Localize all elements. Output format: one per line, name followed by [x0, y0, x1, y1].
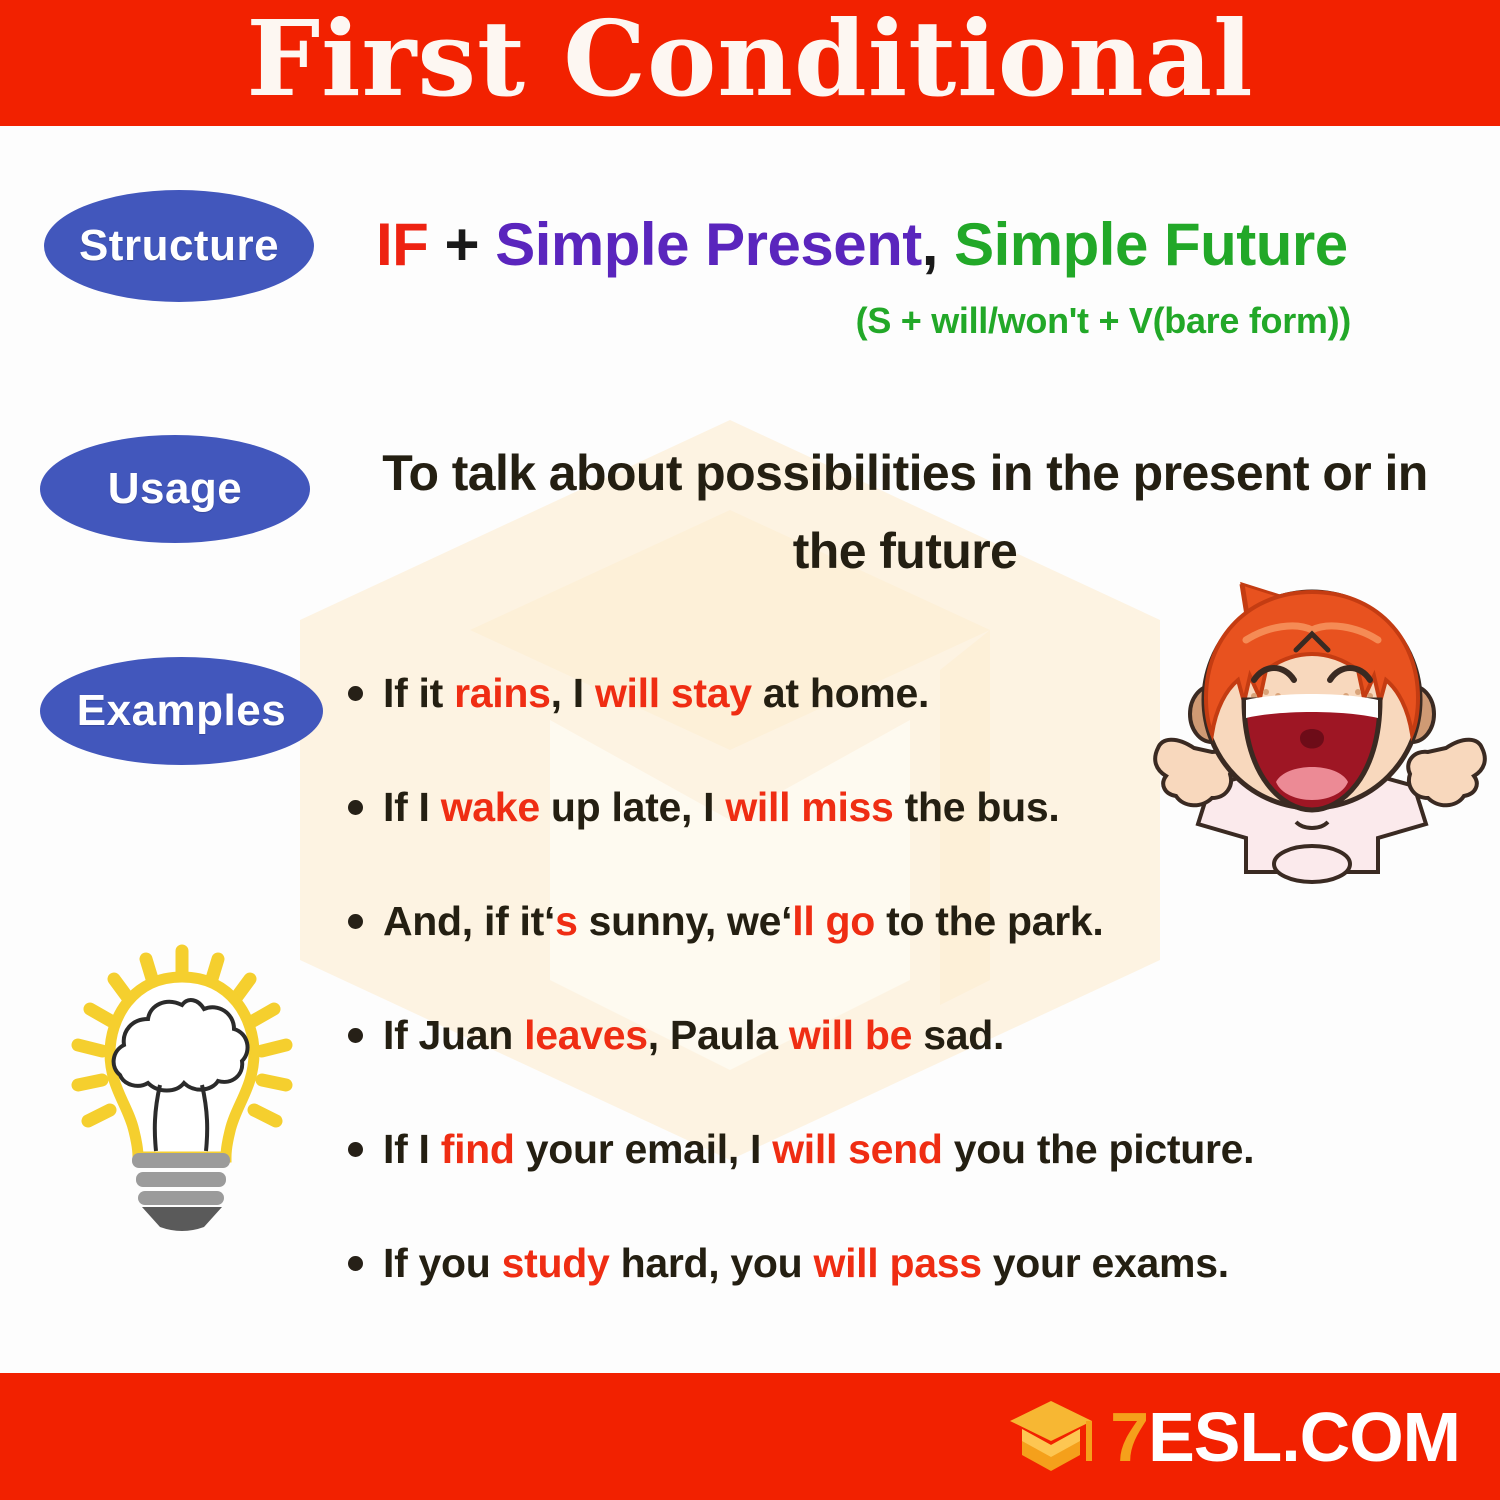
example-text: hard, you: [609, 1240, 813, 1286]
formula-comma: ,: [922, 211, 954, 278]
example-highlight: s: [555, 898, 578, 944]
example-text: If it: [383, 670, 454, 716]
example-text: to the park.: [875, 898, 1103, 944]
example-text: at home.: [752, 670, 929, 716]
example-highlight: wake: [441, 784, 540, 830]
example-text: your email, I: [515, 1126, 773, 1172]
example-highlight: will be: [789, 1012, 912, 1058]
example-highlight: ll go: [792, 898, 875, 944]
formula-if: IF: [376, 211, 428, 278]
example-text: your exams.: [982, 1240, 1229, 1286]
example-text: sunny, we‘: [578, 898, 793, 944]
example-highlight: study: [502, 1240, 610, 1286]
footer-logo[interactable]: 7ESL.COM: [1008, 1373, 1460, 1500]
pill-structure: Structure: [44, 190, 314, 302]
example-text: you the picture.: [943, 1126, 1255, 1172]
structure-subline: (S + will/won't + V(bare form)): [376, 300, 1351, 342]
example-text: If Juan: [383, 1012, 524, 1058]
example-text: If you: [383, 1240, 502, 1286]
formula-plus: +: [428, 211, 495, 278]
usage-text: To talk about possibilities in the prese…: [370, 435, 1440, 590]
example-highlight: will send: [772, 1126, 942, 1172]
logo-text: ESL.COM: [1148, 1402, 1460, 1472]
structure-formula: IF + Simple Present, Simple Future: [376, 213, 1436, 276]
example-text: And, if it‘: [383, 898, 555, 944]
example-item: If Juan leaves, Paula will be sad.: [345, 1014, 1415, 1128]
example-highlight: rains: [454, 670, 551, 716]
pill-usage-label: Usage: [108, 464, 243, 514]
pill-examples: Examples: [40, 657, 323, 765]
logo-digit: 7: [1110, 1402, 1148, 1472]
example-highlight: will stay: [595, 670, 752, 716]
example-item: And, if it‘s sunny, we‘ll go to the park…: [345, 900, 1415, 1014]
example-text: the bus.: [894, 784, 1060, 830]
example-text: up late, I: [540, 784, 726, 830]
formula-simple-present: Simple Present: [495, 211, 922, 278]
pill-structure-label: Structure: [79, 221, 279, 271]
example-highlight: will pass: [814, 1240, 982, 1286]
pill-examples-label: Examples: [77, 686, 286, 736]
formula-simple-future: Simple Future: [954, 211, 1348, 278]
example-text: , Paula: [648, 1012, 789, 1058]
example-item: If I find your email, I will send you th…: [345, 1128, 1415, 1242]
example-text: If I: [383, 784, 441, 830]
example-highlight: leaves: [524, 1012, 648, 1058]
pill-usage: Usage: [40, 435, 310, 543]
example-text: If I: [383, 1126, 441, 1172]
example-highlight: will miss: [725, 784, 893, 830]
example-text: sad.: [912, 1012, 1004, 1058]
graduation-cap-icon: [1008, 1397, 1094, 1477]
lightbulb-icon: [42, 935, 322, 1235]
example-item: If you study hard, you will pass your ex…: [345, 1242, 1415, 1356]
logo-wordmark: 7ESL.COM: [1110, 1402, 1460, 1472]
example-text: , I: [551, 670, 595, 716]
laughing-child-icon: [1150, 572, 1490, 902]
example-highlight: find: [441, 1126, 515, 1172]
